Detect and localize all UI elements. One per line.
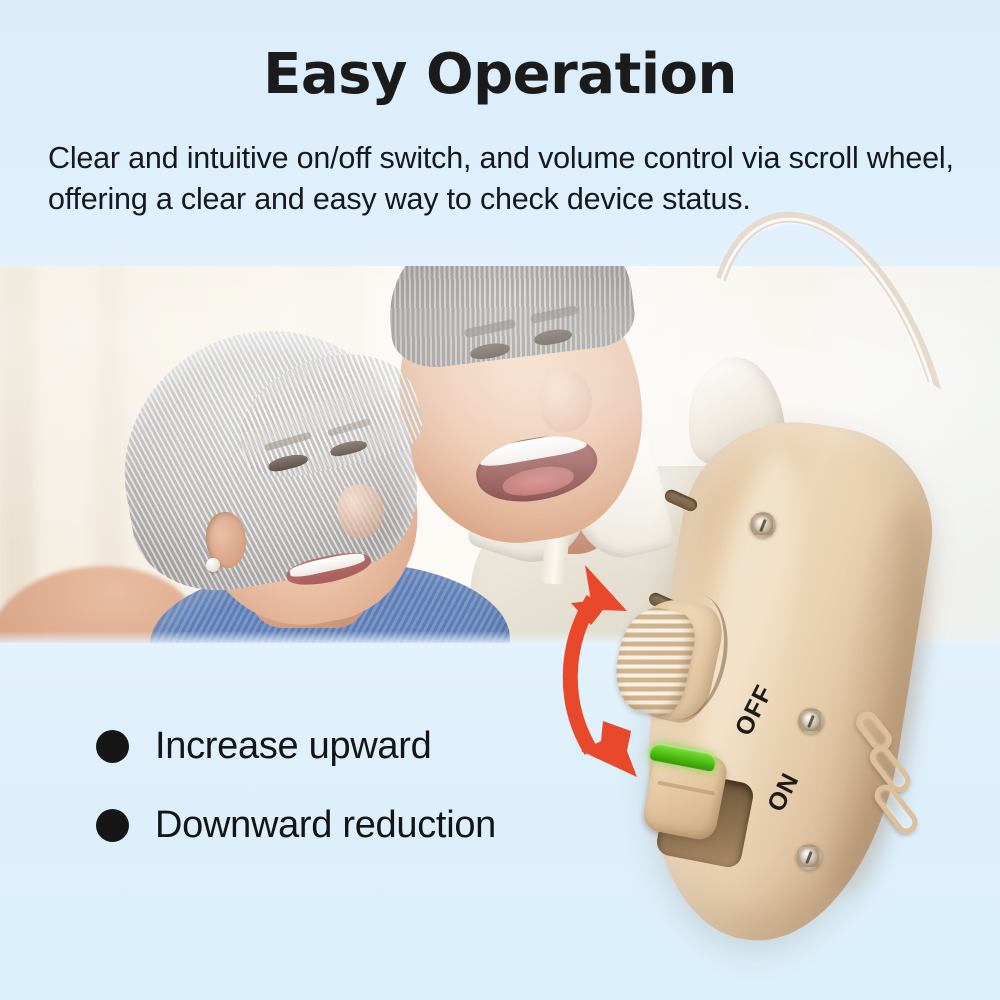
bullet-dot-icon [96,730,129,763]
screw-icon [796,844,822,870]
feature-bullet-list: Increase upward Downward reduction [96,725,496,883]
list-item: Increase upward [96,725,496,768]
bullet-label: Downward reduction [155,804,496,847]
bullet-dot-icon [96,809,129,842]
infographic-canvas: Easy Operation Clear and intuitive on/of… [0,0,1000,1000]
screw-icon [798,708,824,734]
up-down-adjust-arrow-icon [545,555,675,785]
bullet-label: Increase upward [155,725,431,768]
woman-pearl-earring [206,558,220,572]
screw-icon [750,512,776,538]
list-item: Downward reduction [96,804,496,847]
page-title: Easy Operation [0,46,1000,105]
